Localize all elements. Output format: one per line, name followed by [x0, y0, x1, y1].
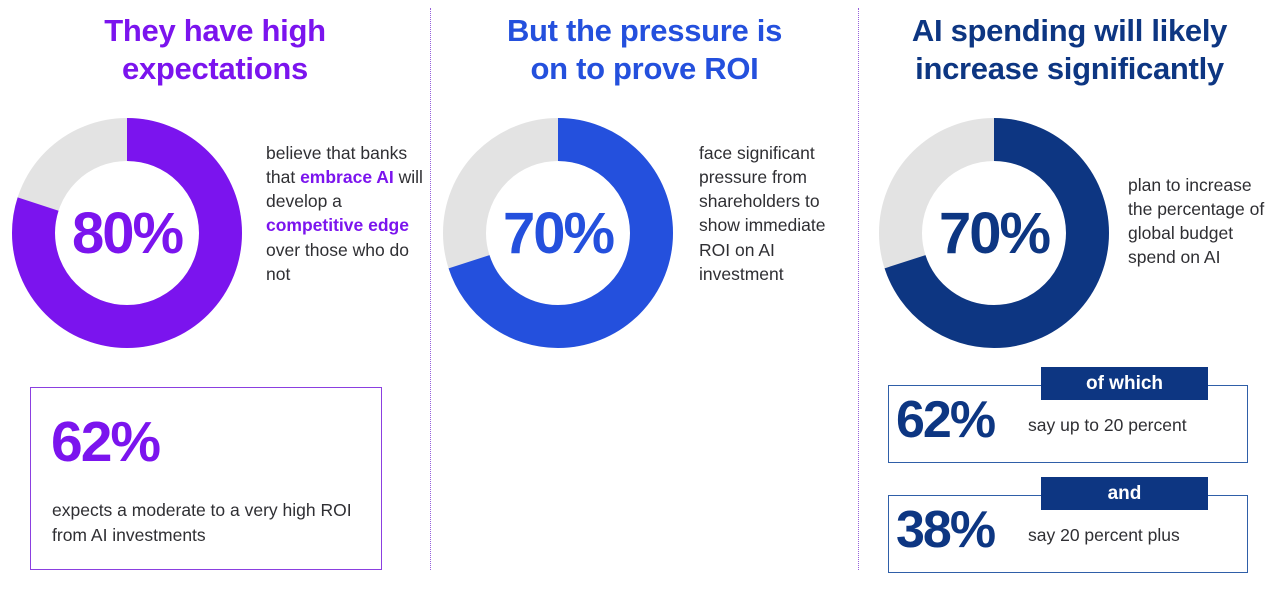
stat-box-percent: 62%: [51, 414, 159, 471]
stat-row-badge: and: [1041, 477, 1208, 510]
donut-description-1: believe that banks that embrace AI will …: [266, 141, 426, 286]
column-3-heading-line1: AI spending will likely: [912, 13, 1227, 48]
column-1-heading: They have high expectations: [0, 12, 430, 88]
stat-row-percent: 62%: [896, 393, 994, 448]
donut-chart-70-spending: 70%: [879, 118, 1109, 348]
column-3-heading: AI spending will likely increase signifi…: [859, 12, 1280, 88]
donut-center-label: 70%: [879, 118, 1109, 348]
column-2-heading-line2: on to prove ROI: [530, 51, 758, 86]
column-2-heading-line1: But the pressure is: [507, 13, 782, 48]
stat-box-text: expects a moderate to a very high ROI fr…: [52, 498, 370, 548]
infographic-stage: They have high expectations 80% believe …: [0, 0, 1280, 589]
stat-row-up-to-20-percent: 62% of which say up to 20 percent: [888, 385, 1248, 463]
donut-center-label: 80%: [12, 118, 242, 348]
column-1-heading-line2: expectations: [122, 51, 308, 86]
stat-row-badge: of which: [1041, 367, 1208, 400]
desc-part-bold-competitive-edge: competitive edge: [266, 215, 409, 235]
donut-description-2: face significant pressure from sharehold…: [699, 141, 844, 286]
desc-part-plain-3: over those who do not: [266, 240, 409, 284]
column-expectations: They have high expectations 80% believe …: [0, 0, 430, 589]
donut-center-label: 70%: [443, 118, 673, 348]
stat-box-roi-expectation: 62% expects a moderate to a very high RO…: [30, 387, 382, 570]
column-1-heading-line1: They have high: [104, 13, 325, 48]
stat-row-text: say 20 percent plus: [1028, 524, 1243, 548]
stat-row-20-percent-plus: 38% and say 20 percent plus: [888, 495, 1248, 573]
column-3-heading-line2: increase significantly: [915, 51, 1224, 86]
donut-chart-70-pressure: 70%: [443, 118, 673, 348]
column-2-heading: But the pressure is on to prove ROI: [431, 12, 858, 88]
desc-part-bold-embrace-ai: embrace AI: [300, 167, 394, 187]
stat-row-text: say up to 20 percent: [1028, 414, 1243, 438]
stat-row-percent: 38%: [896, 503, 994, 558]
donut-description-3: plan to increase the percentage of globa…: [1128, 173, 1278, 270]
donut-chart-80: 80%: [12, 118, 242, 348]
